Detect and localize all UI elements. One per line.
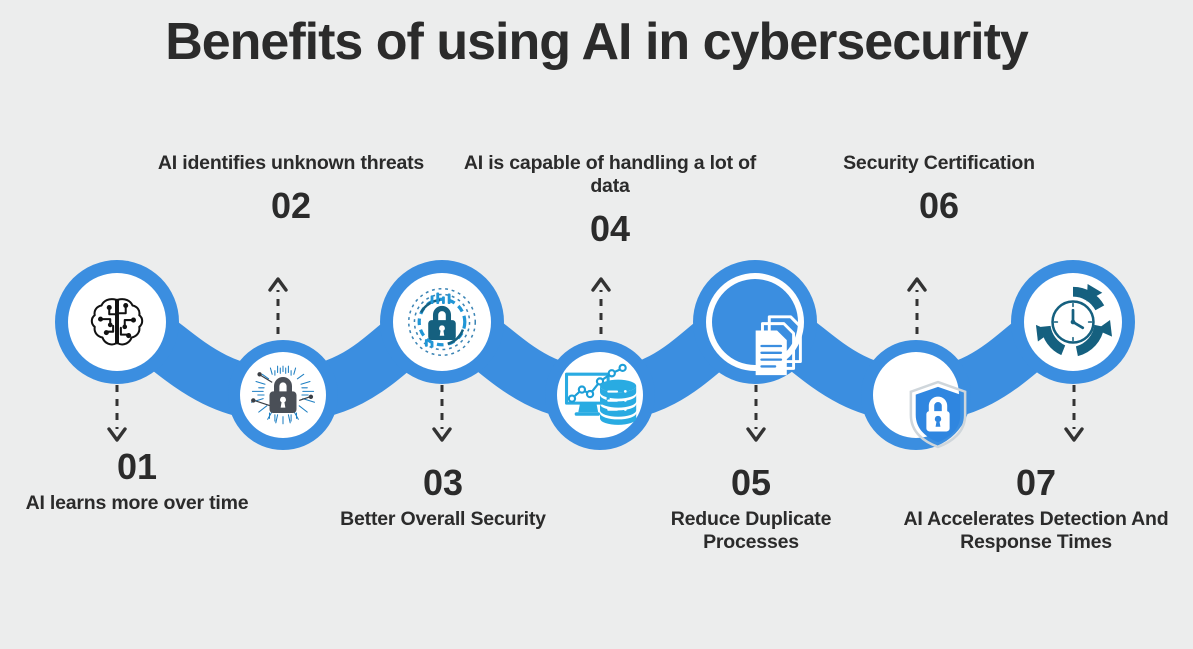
step-number-05: 05 [636,462,866,504]
step-label-03: 03 Better Overall Security [302,462,584,531]
monitor-chart-database-icon [562,362,638,428]
step-label-07: 07 AI Accelerates Detection And Response… [886,462,1186,554]
node-02-padlock-circuit-threat[interactable] [231,343,335,447]
step-text-06: Security Certification [792,152,1086,175]
ai-brain-circuit-icon [86,291,148,353]
step-text-07: AI Accelerates Detection And Response Ti… [886,508,1186,554]
node-06-shield-padlock[interactable] [886,362,990,466]
step-label-04: AI is capable of handling a lot of data … [456,152,764,250]
shield-padlock-icon [907,379,969,449]
arrow-down-01 [105,385,107,447]
node-03-padlock-tech-ring[interactable] [383,263,501,381]
clock-refresh-arrows-icon [1034,283,1112,361]
step-label-05: 05 Reduce Duplicate Processes [636,462,866,554]
step-text-02: AI identifies unknown threats [146,152,436,175]
node-05-stacked-documents[interactable] [720,287,838,405]
arrow-up-04 [589,272,591,334]
stacked-documents-icon [744,311,814,381]
step-text-04: AI is capable of handling a lot of data [456,152,764,198]
page-title: Benefits of using AI in cybersecurity [0,14,1193,71]
step-label-01: 01 AI learns more over time [12,446,262,515]
step-number-07: 07 [886,462,1186,504]
step-text-01: AI learns more over time [12,492,262,515]
arrow-up-02 [266,272,268,334]
padlock-tech-ring-icon [404,284,480,360]
arrow-down-03 [430,385,432,447]
node-07-clock-refresh-arrows[interactable] [1014,263,1132,381]
arrow-down-05 [744,385,746,447]
arrow-down-07 [1062,385,1064,447]
step-text-03: Better Overall Security [302,508,584,531]
step-number-02: 02 [146,185,436,227]
padlock-circuit-threat-icon [247,362,319,428]
infographic-canvas: Benefits of using AI in cybersecurity [0,0,1193,649]
step-label-06: Security Certification 06 [792,152,1086,227]
node-01-ai-brain-circuit[interactable] [58,263,176,381]
step-number-06: 06 [792,185,1086,227]
step-text-05: Reduce Duplicate Processes [636,508,866,554]
node-04-monitor-chart-database[interactable] [548,343,652,447]
step-number-03: 03 [302,462,584,504]
step-label-02: AI identifies unknown threats 02 [146,152,436,227]
step-number-01: 01 [12,446,262,488]
arrow-up-06 [905,272,907,334]
step-number-04: 04 [456,208,764,250]
